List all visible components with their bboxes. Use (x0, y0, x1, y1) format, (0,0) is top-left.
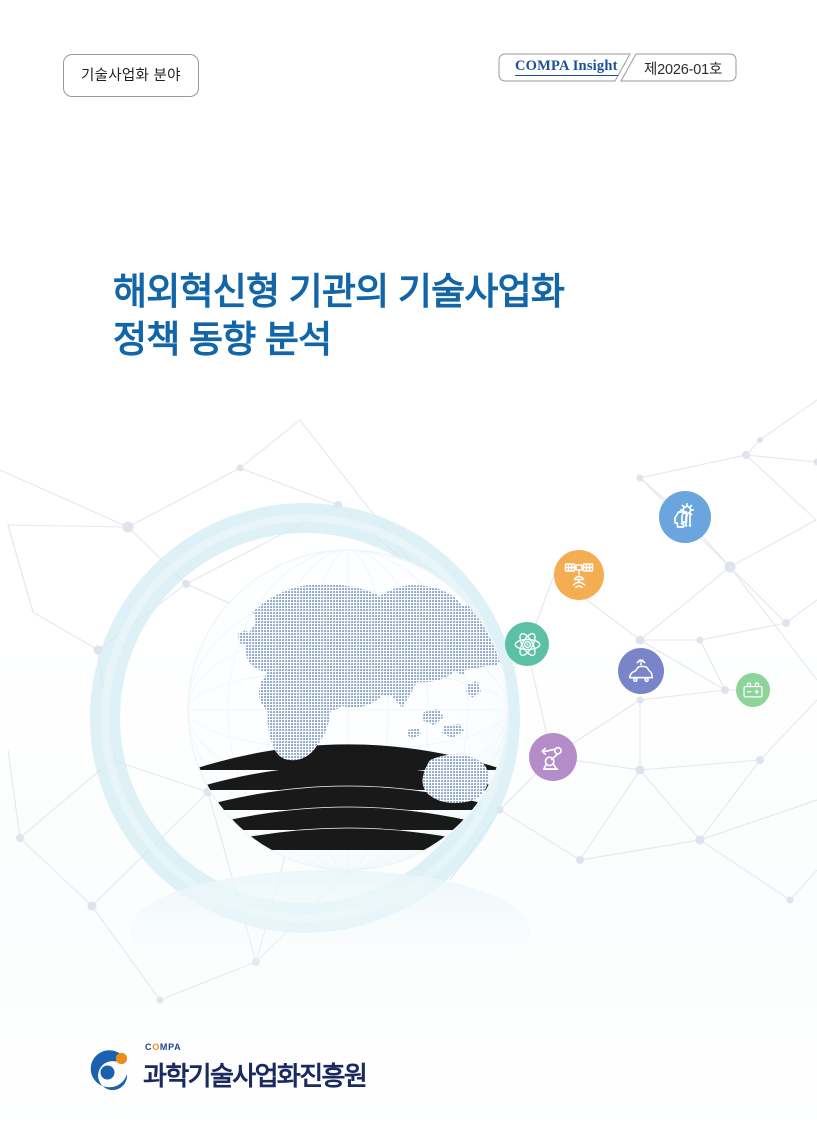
title-line-1: 해외혁신형 기관의 기술사업화 (113, 268, 733, 316)
page-title: 해외혁신형 기관의 기술사업화 정책 동향 분석 (113, 268, 733, 364)
issue-tag-group: COMPA Insight 제2026-01호 (498, 53, 738, 82)
battery-icon (736, 673, 770, 707)
organization-name: 과학기술사업화진흥원 (143, 1056, 366, 1093)
network-mesh-left (0, 420, 420, 1000)
battery-glyph (742, 679, 764, 701)
title-line-2: 정책 동향 분석 (113, 316, 733, 364)
compa-mark-glyph (83, 1048, 135, 1094)
globe-sphere (188, 550, 508, 870)
satellite-glyph (563, 559, 595, 591)
globe-hatch (188, 744, 508, 850)
compa-logo-mark (83, 1048, 135, 1094)
globe-edge (188, 550, 508, 870)
document-cover-page: 기술사업화 분야 COMPA Insight 제2026-01호 해외혁신형 기… (0, 0, 817, 1142)
compa-logo-text: COMPA 과학기술사업화진흥원 (143, 1056, 366, 1094)
cover-illustration (0, 0, 817, 1142)
robot-arm-glyph (538, 742, 569, 773)
autonomous-vehicle-glyph (626, 656, 656, 686)
brand-tag-label: COMPA Insight (515, 58, 618, 75)
compa-logo: COMPA 과학기술사업화진흥원 (83, 1046, 366, 1094)
globe-graticule (188, 550, 508, 870)
globe-outer-ring (105, 518, 505, 918)
globe-outer-ring-inner (105, 518, 505, 918)
compa-acronym: COMPA (145, 1042, 181, 1052)
issue-number-label: 제2026-01호 (644, 58, 722, 79)
ai-brain-gear-glyph (669, 501, 701, 533)
robot-arm-icon (529, 733, 577, 781)
globe-glow (130, 870, 530, 990)
ai-brain-gear-icon (659, 491, 711, 543)
atom-glyph (513, 630, 542, 659)
globe-continents (238, 584, 510, 810)
satellite-icon (554, 550, 604, 600)
network-nodes-left (16, 465, 424, 1004)
autonomous-vehicle-icon (618, 648, 664, 694)
category-badge: 기술사업화 분야 (63, 54, 199, 97)
atom-icon (505, 622, 549, 666)
